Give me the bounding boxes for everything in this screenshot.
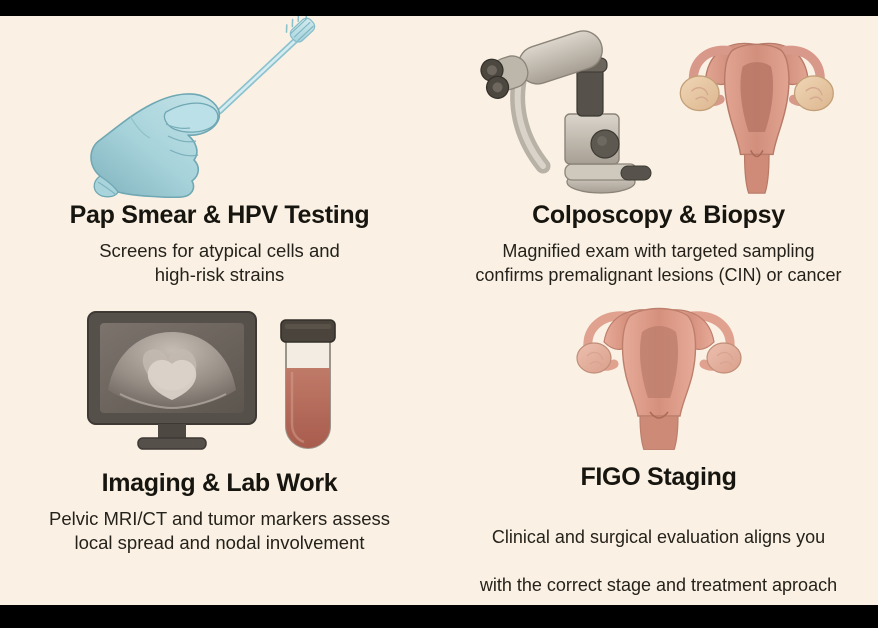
cytobrush-icon (220, 16, 319, 111)
card-caption: Clinical and surgical evaluation aligns … (480, 501, 837, 605)
infographic-canvas: Pap Smear & HPV Testing Screens for atyp… (0, 16, 878, 605)
illustration-uterus-anatomy (439, 300, 878, 450)
card-pap-smear: Pap Smear & HPV Testing Screens for atyp… (0, 16, 439, 288)
caption-line-1: Clinical and surgical evaluation aligns … (480, 525, 837, 549)
uterus-anatomy-icon (577, 309, 741, 451)
card-imaging-lab: Imaging & Lab Work Pelvic MRI/CT and tum… (0, 288, 439, 605)
caption-line-2: with the correct stage and treatment apr… (480, 573, 837, 597)
letterbox-bottom (0, 605, 878, 628)
card-grid: Pap Smear & HPV Testing Screens for atyp… (0, 16, 878, 605)
illustration-colposcope-and-uterus (439, 16, 878, 198)
card-colposcopy: Colposcopy & Biopsy Magnified exam with … (439, 16, 878, 288)
infographic-root: Pap Smear & HPV Testing Screens for atyp… (0, 0, 878, 628)
illustration-ultrasound-monitor-and-blood-tube (0, 306, 439, 456)
card-figo-staging: FIGO Staging Clinical and surgical evalu… (439, 288, 878, 605)
letterbox-top (0, 0, 878, 16)
ultrasound-monitor-icon (88, 312, 256, 449)
uterus-anatomy-icon (680, 43, 833, 193)
card-caption: Pelvic MRI/CT and tumor markers assess l… (49, 507, 390, 557)
card-caption: Screens for atypical cells and high-risk… (99, 239, 340, 289)
card-caption: Magnified exam with targeted sampling co… (475, 239, 841, 287)
illustration-gloved-hand-holding-cytobrush (0, 16, 439, 198)
card-title: Imaging & Lab Work (102, 470, 338, 498)
blood-tube-icon (281, 320, 335, 448)
card-title: Colposcopy & Biopsy (532, 202, 785, 230)
gloved-hand-icon (91, 94, 219, 197)
colposcope-icon (478, 25, 651, 193)
card-title: FIGO Staging (580, 464, 736, 492)
card-title: Pap Smear & HPV Testing (70, 202, 370, 230)
